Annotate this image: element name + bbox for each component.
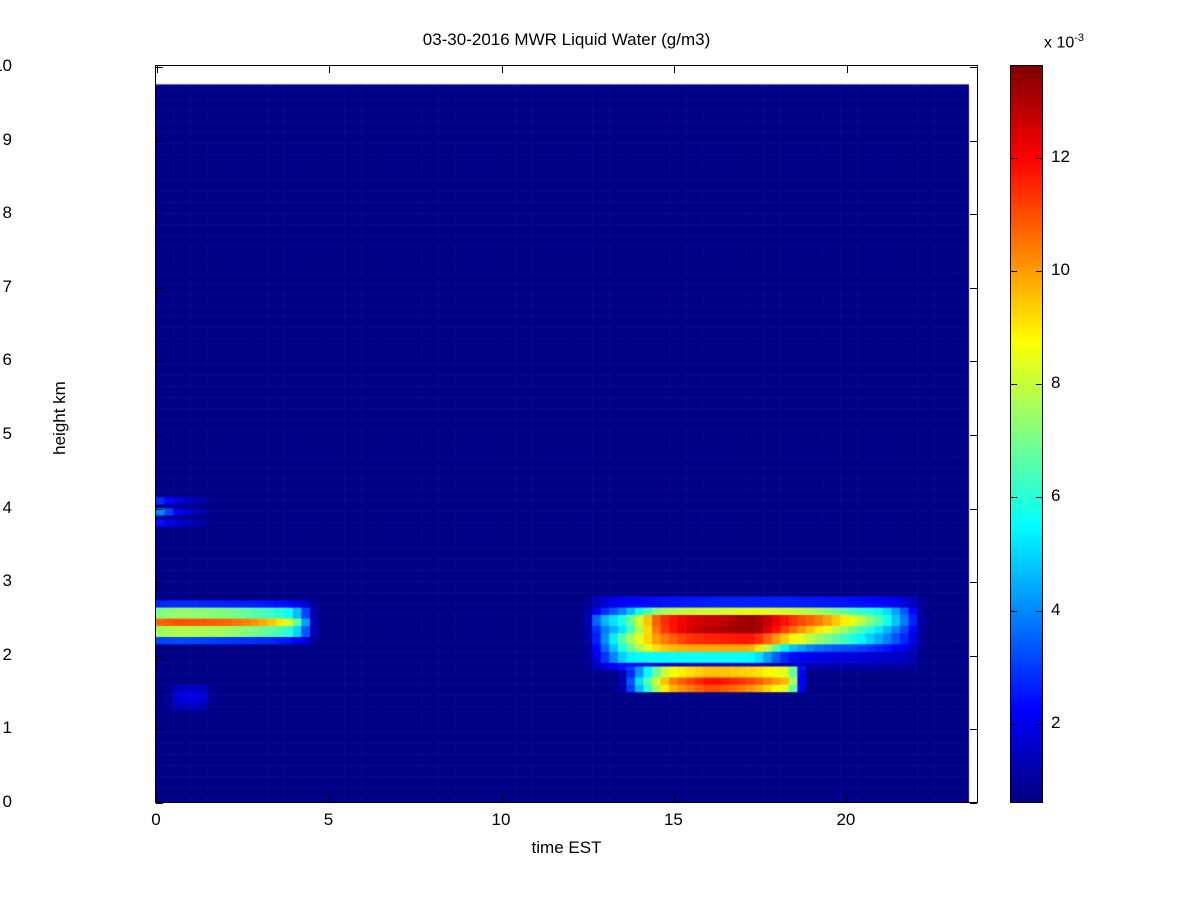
y-tick-mark (970, 435, 977, 436)
x-tick-mark (329, 66, 330, 73)
x-tick-label: 15 (664, 810, 683, 830)
y-tick-mark (970, 141, 977, 142)
x-tick-mark (847, 66, 848, 73)
y-tick-mark (156, 361, 163, 362)
colorbar-tick-label: 12 (1051, 147, 1070, 167)
colorbar-tick-mark (1011, 271, 1017, 272)
x-tick-mark (502, 66, 503, 73)
y-tick-mark (156, 509, 163, 510)
colorbar-tick-label: 4 (1051, 600, 1060, 620)
y-tick-label: 0 (3, 792, 12, 812)
y-tick-mark (156, 288, 163, 289)
page-title: 03-30-2016 MWR Liquid Water (g/m3) (155, 30, 978, 50)
x-tick-mark (329, 795, 330, 802)
y-tick-mark (970, 656, 977, 657)
y-tick-label: 9 (3, 130, 12, 150)
y-tick-label: 3 (3, 571, 12, 591)
colorbar (1010, 65, 1043, 803)
matlab-figure-window: 03-30-2016 MWR Liquid Water (g/m3) time … (0, 0, 1200, 900)
x-tick-mark (157, 66, 158, 73)
x-tick-label: 5 (324, 810, 333, 830)
colorbar-exponent-base: x 10 (1044, 34, 1074, 51)
y-tick-mark (970, 803, 977, 804)
colorbar-tick-label: 6 (1051, 486, 1060, 506)
y-tick-mark (970, 729, 977, 730)
y-tick-mark (970, 582, 977, 583)
colorbar-tick-mark (1011, 158, 1017, 159)
colorbar-tick-mark (1036, 158, 1042, 159)
y-tick-label: 7 (3, 277, 12, 297)
x-axis-title: time EST (155, 838, 978, 858)
y-tick-mark (156, 582, 163, 583)
y-tick-mark (970, 288, 977, 289)
y-tick-label: 1 (3, 718, 12, 738)
y-tick-label: 4 (3, 498, 12, 518)
y-tick-label: 10 (0, 56, 12, 76)
x-tick-mark (674, 66, 675, 73)
y-tick-label: 8 (3, 203, 12, 223)
colorbar-tick-mark (1036, 611, 1042, 612)
colorbar-tick-mark (1011, 724, 1017, 725)
y-tick-mark (970, 361, 977, 362)
y-tick-mark (156, 729, 163, 730)
y-tick-mark (156, 141, 163, 142)
y-tick-label: 2 (3, 645, 12, 665)
colorbar-gradient (1011, 66, 1042, 802)
y-tick-mark (156, 803, 163, 804)
colorbar-tick-mark (1011, 611, 1017, 612)
colorbar-tick-mark (1011, 497, 1017, 498)
y-tick-mark (156, 435, 163, 436)
colorbar-tick-label: 2 (1051, 713, 1060, 733)
x-tick-mark (674, 795, 675, 802)
colorbar-tick-mark (1011, 384, 1017, 385)
y-tick-label: 6 (3, 350, 12, 370)
y-tick-mark (970, 67, 977, 68)
colorbar-tick-mark (1036, 724, 1042, 725)
plot-axes (155, 65, 978, 803)
y-tick-label: 5 (3, 424, 12, 444)
y-tick-mark (156, 214, 163, 215)
y-tick-mark (970, 214, 977, 215)
colorbar-tick-mark (1036, 271, 1042, 272)
heatmap-plot-area (156, 66, 977, 802)
x-tick-label: 0 (151, 810, 160, 830)
x-tick-mark (847, 795, 848, 802)
colorbar-tick-label: 8 (1051, 373, 1060, 393)
x-tick-mark (157, 795, 158, 802)
y-tick-mark (156, 656, 163, 657)
x-tick-mark (502, 795, 503, 802)
colorbar-tick-mark (1036, 497, 1042, 498)
colorbar-exponent-label: x 10-3 (1044, 32, 1084, 52)
colorbar-exponent-power: -3 (1074, 32, 1084, 44)
colorbar-tick-mark (1036, 384, 1042, 385)
x-tick-label: 10 (491, 810, 510, 830)
colorbar-tick-label: 10 (1051, 260, 1070, 280)
y-tick-mark (970, 509, 977, 510)
x-tick-label: 20 (836, 810, 855, 830)
y-axis-title: height km (50, 338, 70, 498)
